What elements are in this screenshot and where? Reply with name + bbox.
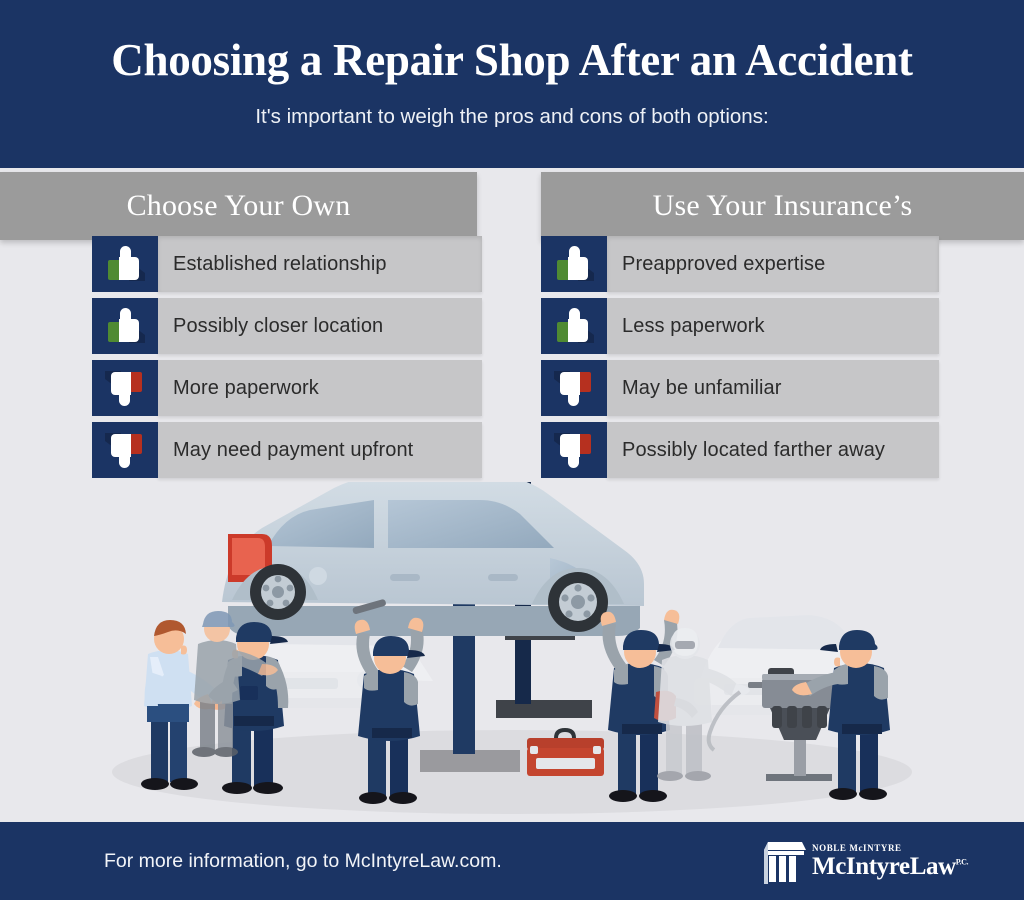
list-item-label: Preapproved expertise bbox=[607, 236, 939, 292]
list-item: More paperwork bbox=[92, 360, 482, 416]
thumbs-up-icon bbox=[92, 298, 158, 354]
column-list-choose-your-own: Established relationship Possibly closer… bbox=[92, 236, 482, 484]
list-item-label: More paperwork bbox=[158, 360, 482, 416]
logo-suffix: P.C. bbox=[956, 858, 968, 867]
column-list-use-your-insurance: Preapproved expertise Less paperwork May… bbox=[541, 236, 939, 484]
front-wheel bbox=[250, 564, 306, 620]
repair-shop-illustration bbox=[0, 482, 1024, 822]
list-item: Established relationship bbox=[92, 236, 482, 292]
list-item: Possibly closer location bbox=[92, 298, 482, 354]
list-item: Preapproved expertise bbox=[541, 236, 939, 292]
logo-main-text: McIntyreLaw bbox=[812, 853, 956, 880]
list-item: Less paperwork bbox=[541, 298, 939, 354]
footer-text: For more information, go to McIntyreLaw.… bbox=[104, 850, 502, 873]
thumbs-down-icon bbox=[92, 360, 158, 416]
list-item: May be unfamiliar bbox=[541, 360, 939, 416]
logo-main-line: McIntyreLawP.C. bbox=[812, 854, 968, 879]
page-title: Choosing a Repair Shop After an Accident bbox=[111, 38, 912, 83]
logo-top-line: NOBLE McINTYRE bbox=[812, 843, 968, 853]
pillar-column-icon bbox=[762, 840, 808, 884]
column-heading-label: Use Your Insurance’s bbox=[653, 189, 913, 223]
thumbs-down-icon bbox=[541, 422, 607, 478]
column-header-choose-your-own: Choose Your Own bbox=[0, 172, 477, 240]
footer-banner: For more information, go to McIntyreLaw.… bbox=[0, 822, 1024, 900]
car-on-lift bbox=[222, 482, 644, 636]
list-item-label: May need payment upfront bbox=[158, 422, 482, 478]
page-subtitle: It's important to weigh the pros and con… bbox=[255, 105, 768, 129]
column-heading-label: Choose Your Own bbox=[127, 189, 351, 223]
list-item-label: Established relationship bbox=[158, 236, 482, 292]
rear-wheel bbox=[548, 572, 608, 632]
list-item-label: Less paperwork bbox=[607, 298, 939, 354]
list-item: Possibly located farther away bbox=[541, 422, 939, 478]
thumbs-up-icon bbox=[92, 236, 158, 292]
list-item-label: Possibly located farther away bbox=[607, 422, 939, 478]
thumbs-up-icon bbox=[541, 236, 607, 292]
infographic-page: Choosing a Repair Shop After an Accident… bbox=[0, 0, 1024, 900]
list-item-label: May be unfamiliar bbox=[607, 360, 939, 416]
column-header-use-your-insurance: Use Your Insurance’s bbox=[541, 172, 1024, 240]
thumbs-down-icon bbox=[92, 422, 158, 478]
thumbs-down-icon bbox=[541, 360, 607, 416]
list-item: May need payment upfront bbox=[92, 422, 482, 478]
list-item-label: Possibly closer location bbox=[158, 298, 482, 354]
mcintyre-law-logo[interactable]: NOBLE McINTYRE McIntyreLawP.C. bbox=[762, 840, 968, 884]
thumbs-up-icon bbox=[541, 298, 607, 354]
header-banner: Choosing a Repair Shop After an Accident… bbox=[0, 0, 1024, 168]
